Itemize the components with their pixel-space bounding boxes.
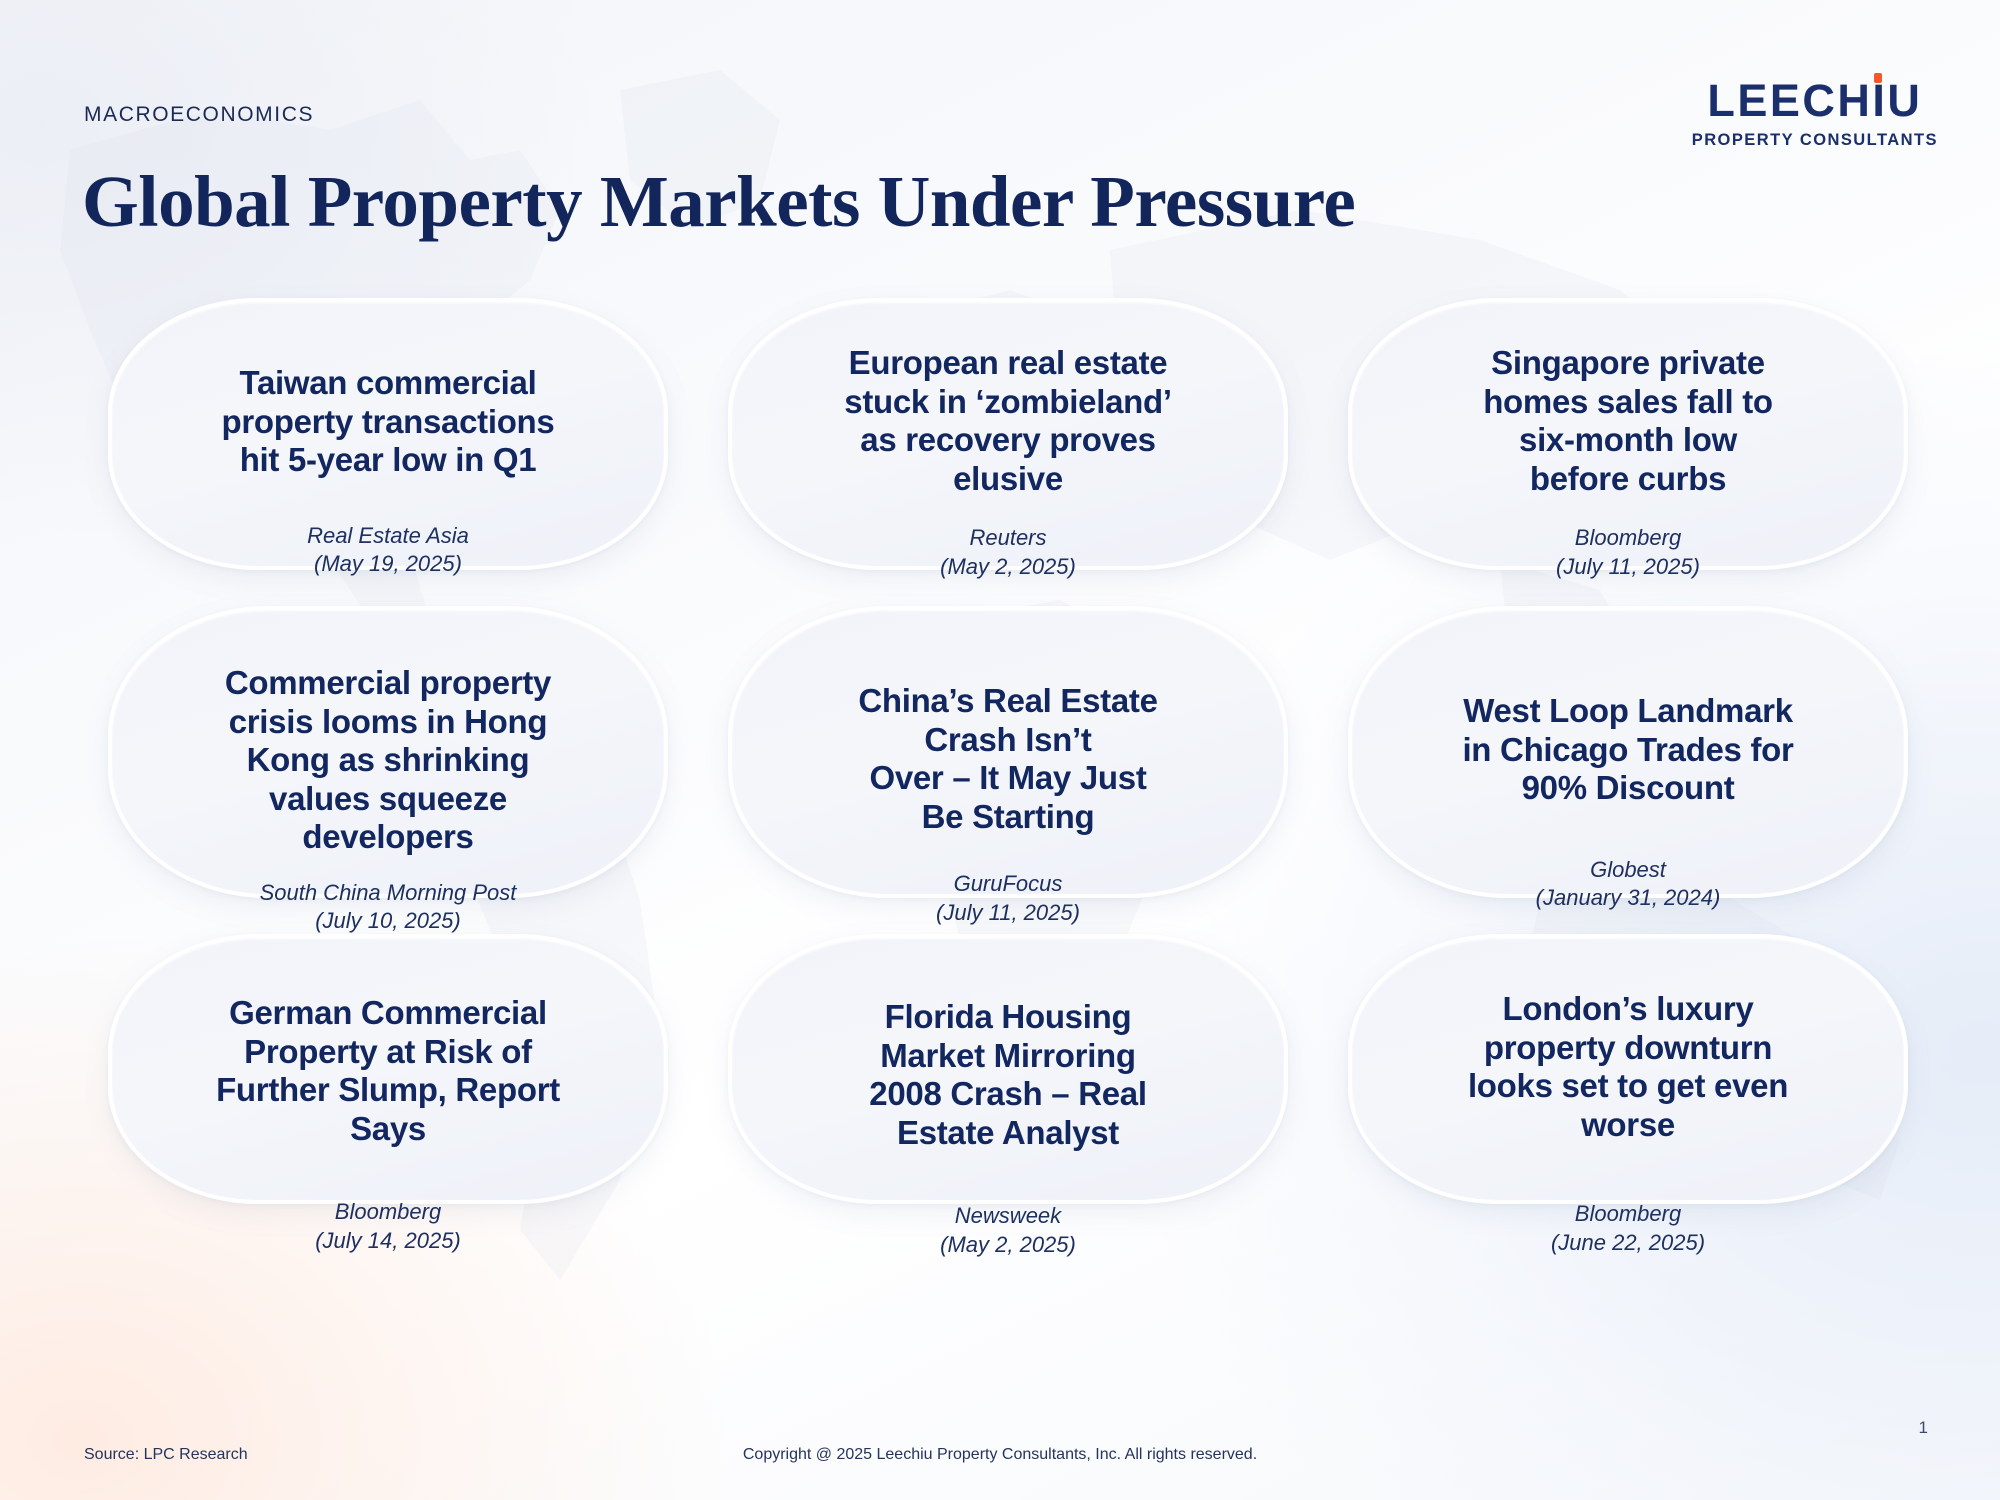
news-source: GuruFocus (July 11, 2025) [936,870,1080,926]
news-source: Bloomberg (July 14, 2025) [315,1198,461,1254]
logo-orange-dot-icon [1874,73,1882,83]
logo-tagline: PROPERTY CONSULTANTS [1692,132,1938,149]
news-card-grid: Taiwan commercial property transactions … [108,298,1908,1204]
news-source: South China Morning Post (July 10, 2025) [260,879,517,935]
page-number: 1 [1919,1418,1928,1438]
news-headline: West Loop Landmark in Chicago Trades for… [1462,692,1793,808]
news-source: Globest (January 31, 2024) [1536,856,1721,912]
news-card[interactable]: London’s luxury property downturn looks … [1348,934,1908,1204]
news-source: Bloomberg (July 11, 2025) [1556,524,1700,580]
news-headline: European real estate stuck in ‘zombielan… [844,344,1171,498]
news-headline: Florida Housing Market Mirroring 2008 Cr… [869,998,1146,1152]
leechiu-logo: LEECHIU PROPERTY CONSULTANTS [1692,78,1938,149]
news-source: Newsweek (May 2, 2025) [940,1202,1076,1258]
news-card[interactable]: Commercial property crisis looms in Hong… [108,606,668,898]
news-source: Bloomberg (June 22, 2025) [1551,1200,1705,1256]
slide-root: MACROECONOMICS Global Property Markets U… [0,0,2000,1500]
news-headline: London’s luxury property downturn looks … [1468,990,1788,1144]
footer-source: Source: LPC Research [84,1446,248,1464]
news-source: Reuters (May 2, 2025) [940,524,1076,580]
section-kicker: MACROECONOMICS [84,103,314,127]
news-headline: China’s Real Estate Crash Isn’t Over – I… [858,682,1157,836]
footer-copyright: Copyright @ 2025 Leechiu Property Consul… [743,1446,1257,1464]
news-source: Real Estate Asia (May 19, 2025) [307,522,469,578]
news-headline: German Commercial Property at Risk of Fu… [216,994,560,1148]
logo-wordmark-text: LEECHIU [1707,75,1922,126]
news-card[interactable]: German Commercial Property at Risk of Fu… [108,934,668,1204]
news-headline: Commercial property crisis looms in Hong… [225,664,551,857]
news-card[interactable]: West Loop Landmark in Chicago Trades for… [1348,606,1908,898]
news-card[interactable]: Singapore private homes sales fall to si… [1348,298,1908,570]
page-title: Global Property Markets Under Pressure [82,160,1355,244]
news-card[interactable]: Florida Housing Market Mirroring 2008 Cr… [728,934,1288,1204]
news-headline: Taiwan commercial property transactions … [222,364,555,480]
news-card[interactable]: Taiwan commercial property transactions … [108,298,668,570]
logo-wordmark: LEECHIU [1707,78,1922,123]
news-card[interactable]: European real estate stuck in ‘zombielan… [728,298,1288,570]
news-card[interactable]: China’s Real Estate Crash Isn’t Over – I… [728,606,1288,898]
news-headline: Singapore private homes sales fall to si… [1483,344,1773,498]
